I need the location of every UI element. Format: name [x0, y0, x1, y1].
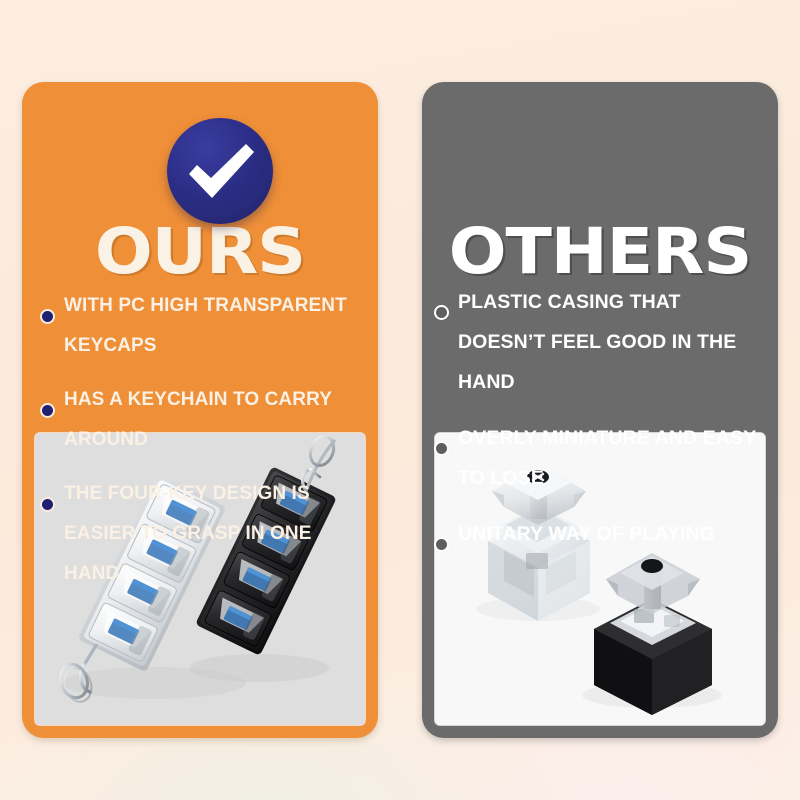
others-bullet-3: UNITARY WAY OF PLAYING [458, 514, 715, 554]
list-item: THE FOUR-KEY DESIGN IS EASIER TO GRASP I… [40, 474, 362, 594]
others-heading: OTHERS [422, 220, 778, 283]
bullet-dot-icon [434, 441, 449, 456]
list-item: WITH PC HIGH TRANSPARENT KEYCAPS [40, 286, 362, 366]
ours-panel: OURS WITH PC HIGH TRANSPARENT KEYCAPS HA… [22, 82, 378, 738]
list-item: PLASTIC CASING THAT DOESN’T FEEL GOOD IN… [434, 282, 770, 402]
bullet-dot-icon [40, 497, 55, 512]
comparison-infographic: OURS WITH PC HIGH TRANSPARENT KEYCAPS HA… [0, 0, 800, 800]
black-switch [594, 553, 712, 715]
ours-bullet-2: HAS A KEYCHAIN TO CARRY AROUND [64, 380, 362, 460]
check-icon [167, 118, 273, 224]
bullet-dot-icon [434, 305, 449, 320]
check-badge [167, 118, 273, 224]
ours-bullet-3: THE FOUR-KEY DESIGN IS EASIER TO GRASP I… [64, 474, 362, 594]
list-item: UNITARY WAY OF PLAYING [434, 514, 770, 554]
bullet-dot-icon [434, 537, 449, 552]
ours-bullet-1: WITH PC HIGH TRANSPARENT KEYCAPS [64, 286, 362, 366]
bullet-dot-icon [40, 309, 55, 324]
ours-bullet-list: WITH PC HIGH TRANSPARENT KEYCAPS HAS A K… [22, 286, 378, 594]
ours-heading: OURS [22, 220, 378, 283]
others-bullet-1: PLASTIC CASING THAT DOESN’T FEEL GOOD IN… [458, 282, 770, 402]
list-item: OVERLY MINIATURE AND EASY TO LOSE [434, 418, 770, 498]
list-item: HAS A KEYCHAIN TO CARRY AROUND [40, 380, 362, 460]
others-bullet-2: OVERLY MINIATURE AND EASY TO LOSE [458, 418, 770, 498]
others-bullet-list: PLASTIC CASING THAT DOESN’T FEEL GOOD IN… [422, 282, 778, 554]
others-panel: OTHERS PLASTIC CASING THAT DOESN’T FEEL … [422, 82, 778, 738]
bullet-dot-icon [40, 403, 55, 418]
